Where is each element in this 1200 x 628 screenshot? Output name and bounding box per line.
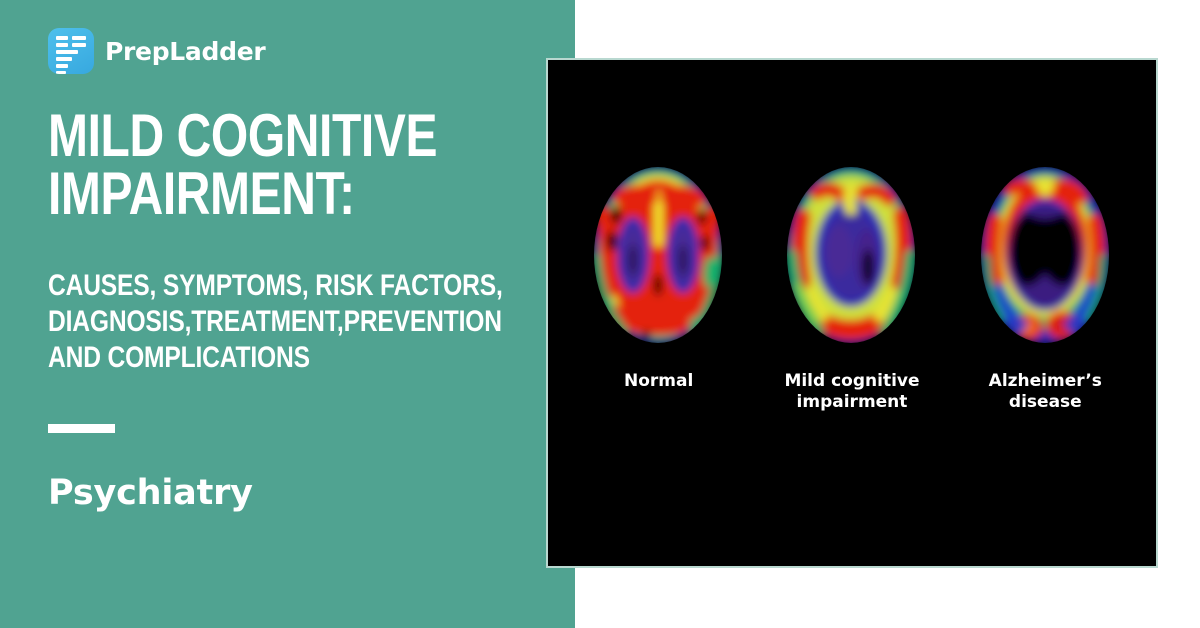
brain-scan-caption-alzheimers: Alzheimer’s disease [989,371,1102,414]
brain-scan-row: Normal [548,60,1156,566]
brand-name-text: PrepLadder [105,37,265,66]
prepladder-ladder-logo-icon [48,28,94,74]
page-subtitle-line-3: AND COMPLICATIONS [48,340,524,376]
caption-line: disease [1009,392,1082,412]
page-subtitle-line-2: DIAGNOSIS,TREATMENT,PREVENTION [48,304,524,340]
brain-scan-caption-normal: Normal [624,371,693,392]
caption-line: Alzheimer’s [989,371,1102,391]
brain-scan-image-panel: Normal [546,58,1158,568]
pet-brain-scan-mci-icon [769,155,934,355]
pet-brain-scan-normal-icon [576,155,741,355]
brain-scan-item-alzheimers: Alzheimer’s disease [955,155,1135,414]
page-title-line-2: IMPAIRMENT: [48,165,552,223]
caption-line: Normal [624,371,693,391]
pet-brain-scan-alzheimers-icon [963,155,1128,355]
caption-line: impairment [797,392,908,412]
promo-card: PrepLadder MILD COGNITIVE IMPAIRMENT: CA… [0,0,1200,628]
page-title-line-1: MILD COGNITIVE [48,107,552,165]
caption-line: Mild cognitive [784,371,919,391]
page-title: MILD COGNITIVE IMPAIRMENT: [48,107,552,223]
subject-label: Psychiatry [48,473,253,513]
brain-scan-item-normal: Normal [569,155,749,392]
brain-scan-item-mci: Mild cognitive impairment [762,155,942,414]
page-subtitle: CAUSES, SYMPTOMS, RISK FACTORS, DIAGNOSI… [48,268,524,376]
page-subtitle-line-1: CAUSES, SYMPTOMS, RISK FACTORS, [48,268,524,304]
brain-scan-caption-mci: Mild cognitive impairment [784,371,919,414]
brand-logo[interactable]: PrepLadder [48,28,265,74]
divider-rule [48,424,115,433]
